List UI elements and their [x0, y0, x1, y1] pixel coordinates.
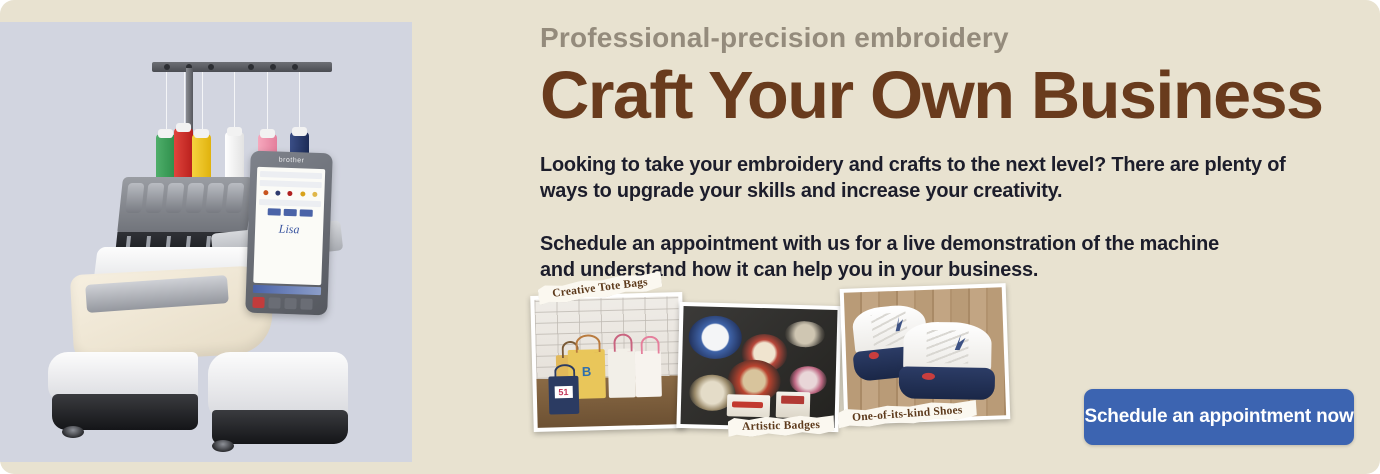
patch-item: [727, 394, 771, 416]
collage-card-shoes: [840, 283, 1011, 425]
badge-item: [784, 320, 825, 347]
thread-spool-red: [174, 128, 193, 180]
tote-bag-white: [608, 348, 637, 397]
machine-foot: [212, 440, 234, 452]
lcd-row: [259, 199, 321, 207]
patch-item: [776, 391, 811, 418]
photo-collage: B 51: [532, 282, 1032, 452]
machine-foot: [62, 426, 84, 438]
sneaker-front: [902, 322, 992, 400]
lcd-hardware-keys: [252, 297, 312, 310]
eyebrow-text: Professional-precision embroidery: [540, 22, 1009, 54]
page-title: Craft Your Own Business: [540, 62, 1323, 129]
paragraph-intro: Looking to take your embroidery and craf…: [540, 152, 1306, 204]
embroidery-machine-image: brother Lisa: [0, 22, 412, 462]
machine-base-dark-left: [52, 394, 198, 430]
lcd-design-name: Lisa: [258, 221, 320, 238]
banner-content: Professional-precision embroidery Craft …: [412, 0, 1380, 474]
tote-bag-pink: [635, 350, 662, 397]
lcd-status-bar: [253, 285, 321, 295]
badge-item: [789, 365, 827, 394]
lcd-screen: Lisa: [253, 167, 325, 285]
photo-custom-shoes: [844, 287, 1006, 420]
lcd-row: [260, 171, 322, 179]
lcd-color-dots: [259, 190, 321, 197]
photo-artistic-badges: [680, 306, 837, 428]
sneaker-eyelet: [922, 373, 934, 380]
needle-head-assembly: [117, 177, 253, 235]
tote-bag-navy: 51: [548, 376, 579, 415]
tote-bag-number: 51: [554, 386, 572, 398]
photo-tote-bags: B 51: [534, 296, 681, 428]
schedule-appointment-button[interactable]: Schedule an appointment now: [1084, 389, 1354, 445]
thread-stand-bar: [152, 62, 332, 72]
product-image-panel: brother Lisa: [0, 22, 412, 462]
lcd-tab-buttons: [259, 208, 321, 217]
collage-card-badges: [676, 302, 841, 432]
collage-card-tote-bags: B 51: [530, 292, 686, 432]
promo-banner: brother Lisa: [0, 0, 1380, 474]
lcd-row: [260, 180, 322, 188]
brother-logo: brother: [250, 156, 332, 166]
machine-base-dark-right: [212, 410, 348, 444]
machine-lcd-panel: brother Lisa: [245, 151, 333, 316]
badge-item: [688, 316, 741, 360]
tote-bag-letter: B: [582, 364, 592, 379]
